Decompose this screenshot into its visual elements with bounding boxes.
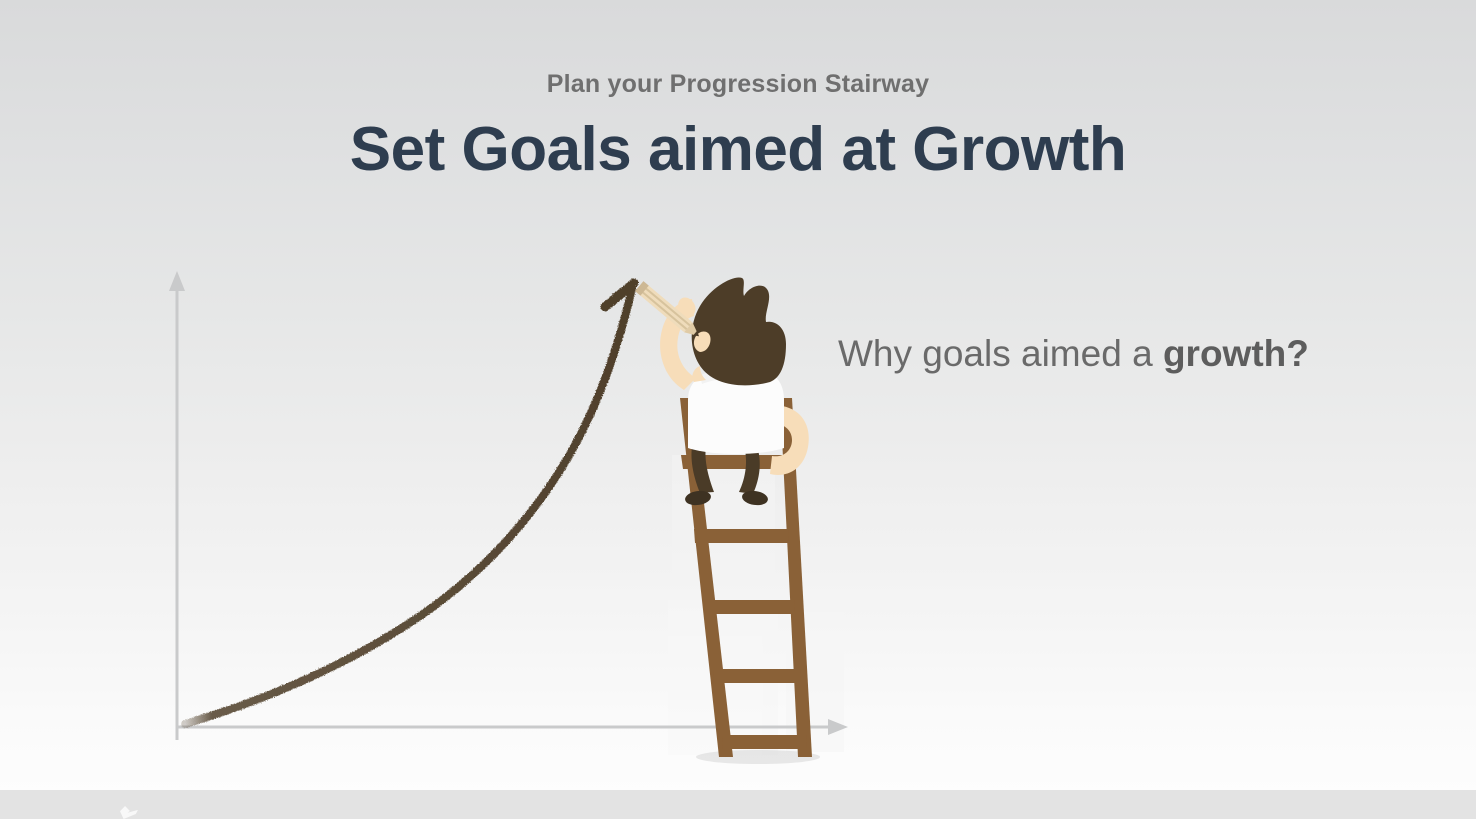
- growth-curve-arrow-icon: [185, 281, 634, 724]
- slide-canvas: Plan your Progression Stairway Set Goals…: [0, 0, 1476, 819]
- bottom-bar: [0, 790, 1476, 819]
- illustration-stage: [0, 0, 1476, 819]
- y-axis: [169, 271, 185, 740]
